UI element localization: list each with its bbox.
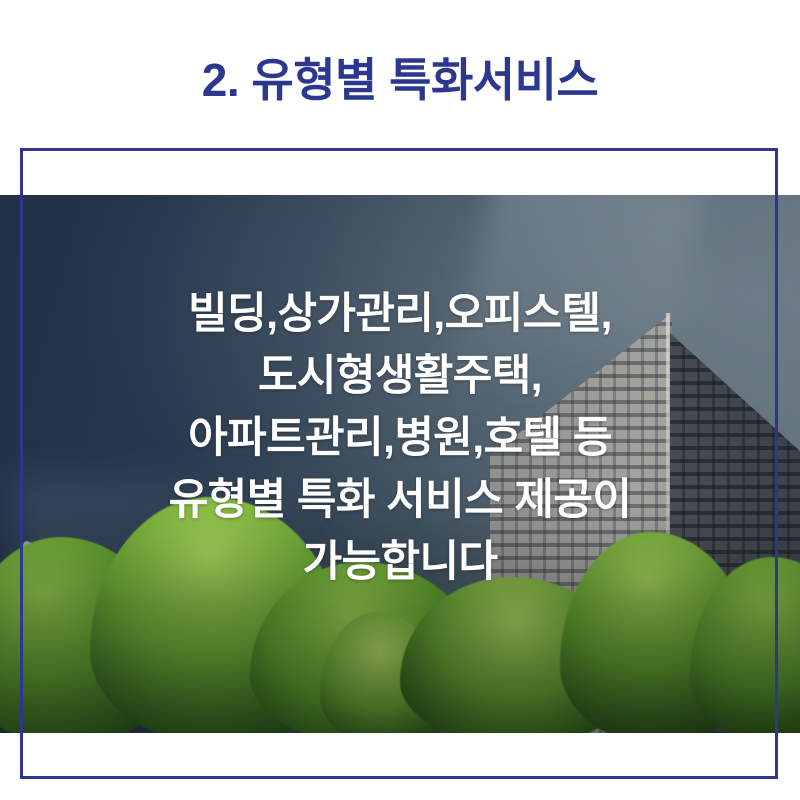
headline-line: 도시형생활주택,: [0, 345, 800, 407]
headline-line: 유형별 특화 서비스 제공이: [0, 469, 800, 531]
headline-block: 빌딩,상가관리,오피스텔, 도시형생활주택, 아파트관리,병원,호텔 등 유형별…: [0, 283, 800, 593]
headline-line: 가능합니다: [0, 531, 800, 593]
page-title: 2. 유형별 특화서비스: [202, 57, 598, 103]
poster-canvas: 2. 유형별 특화서비스 빌딩,상가관리,오피스텔, 도시형생활주택,: [0, 0, 800, 800]
title-bar: 2. 유형별 특화서비스: [0, 44, 800, 116]
headline-line: 빌딩,상가관리,오피스텔,: [0, 283, 800, 345]
headline-line: 아파트관리,병원,호텔 등: [0, 407, 800, 469]
